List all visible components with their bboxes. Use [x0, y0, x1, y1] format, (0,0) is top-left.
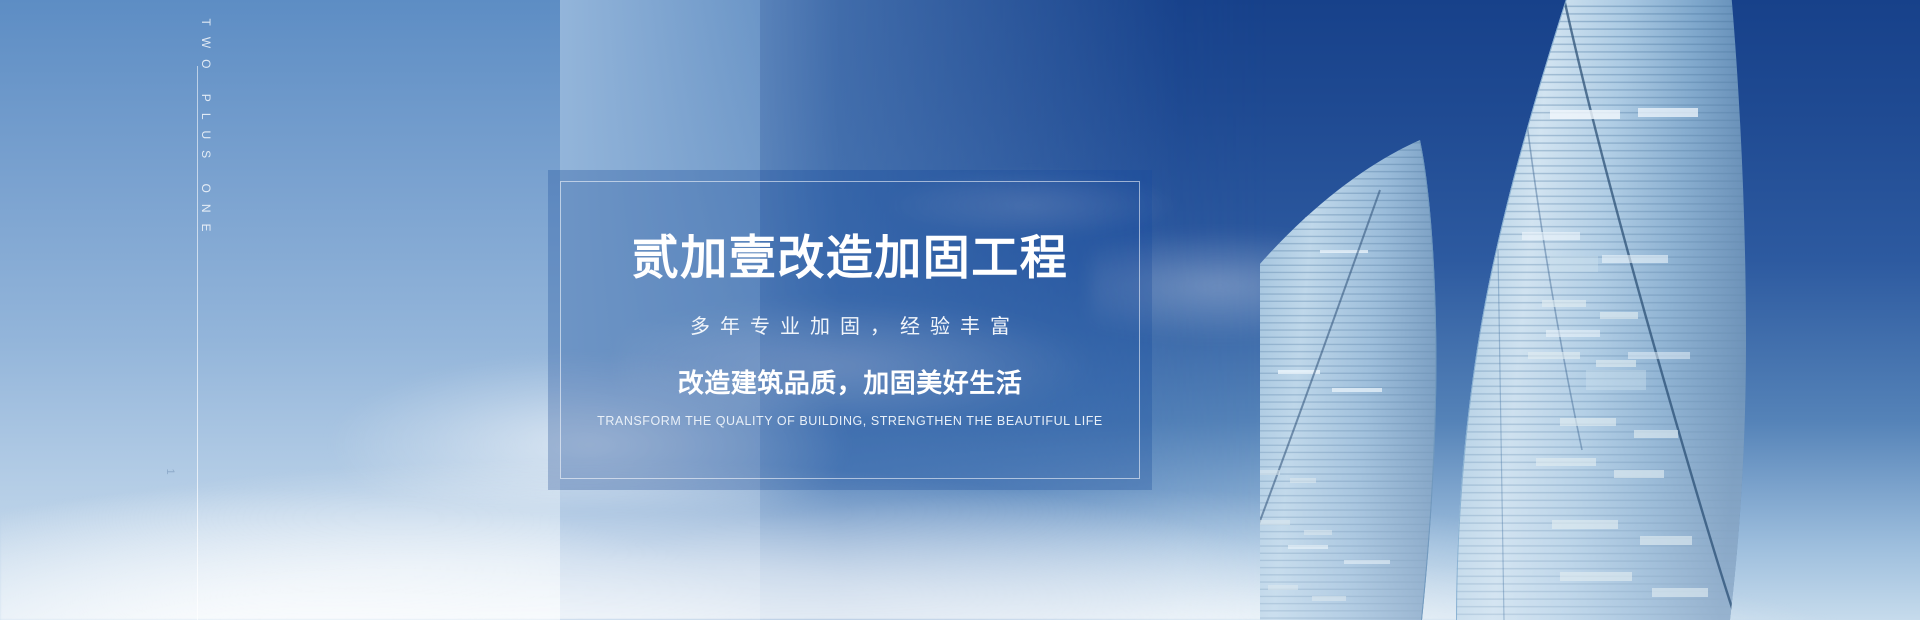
vertical-divider-line: [197, 66, 198, 620]
hero-subline: 多年专业加固，经验丰富: [680, 310, 1020, 339]
brand-vertical-label: TWO PLUS ONE: [199, 5, 213, 245]
hero-text-panel: 贰加壹改造加固工程 多年专业加固，经验丰富 改造建筑品质，加固美好生活 TRAN…: [548, 170, 1152, 490]
hero-tagline: 改造建筑品质，加固美好生活: [678, 363, 1023, 400]
panel-content: 贰加壹改造加固工程 多年专业加固，经验丰富 改造建筑品质，加固美好生活 TRAN…: [548, 170, 1152, 490]
hero-headline: 贰加壹改造加固工程: [632, 232, 1069, 284]
skyscraper-illustration: [1260, 0, 1920, 620]
corner-mark: 1: [164, 452, 176, 492]
brand-rail: TWO PLUS ONE 1: [168, 0, 228, 620]
hero-banner: TWO PLUS ONE 1 贰加壹改造加固工程 多年专业加固，经验丰富 改造建…: [0, 0, 1920, 620]
hero-english-line: TRANSFORM THE QUALITY OF BUILDING, STREN…: [597, 414, 1103, 428]
